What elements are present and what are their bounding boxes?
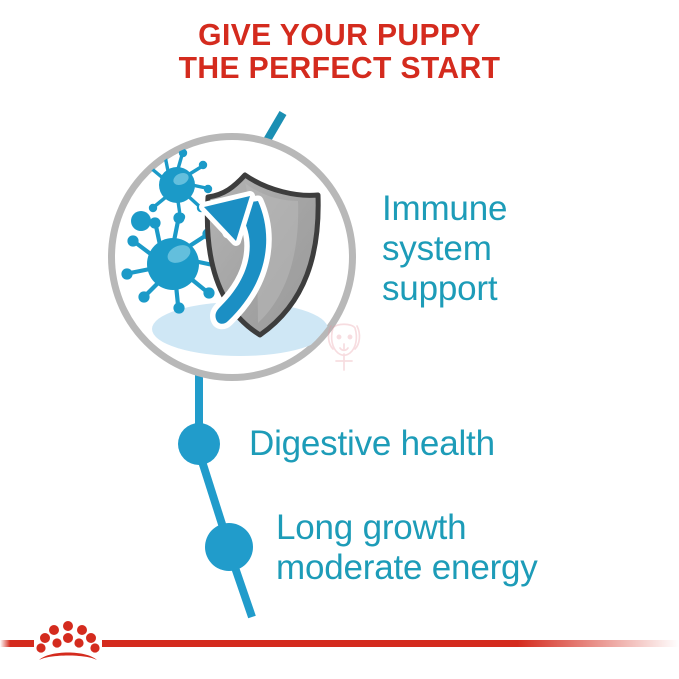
royal-canin-crown-icon	[36, 621, 99, 660]
benefit-label-long-growth-moderate-energy: Long growth moderate energy	[276, 508, 676, 588]
immune-shield-illustration	[108, 133, 356, 381]
page-title-line-1: GIVE YOUR PUPPY	[10, 18, 669, 51]
footer-brand-bar	[0, 612, 679, 679]
bullet-dot-digestive	[178, 423, 220, 465]
dog-face-watermark-icon	[322, 318, 366, 374]
page-title: GIVE YOUR PUPPY THE PERFECT START	[10, 18, 669, 85]
connector-dot2-tail	[230, 553, 252, 617]
poster-canvas: GIVE YOUR PUPPY THE PERFECT START	[0, 0, 679, 679]
bullet-dot-growth	[205, 523, 253, 571]
benefit-label-digestive-health: Digestive health	[249, 424, 649, 464]
footer-rule-left	[0, 640, 34, 647]
connector-dot1-to-dot2	[200, 455, 228, 543]
footer-rule-right	[102, 640, 679, 647]
germ-dot	[131, 211, 151, 231]
benefit-label-immune-system-support: Immune system support	[382, 189, 642, 309]
page-title-line-2: THE PERFECT START	[10, 51, 669, 84]
immune-illustration-circle	[108, 133, 356, 381]
